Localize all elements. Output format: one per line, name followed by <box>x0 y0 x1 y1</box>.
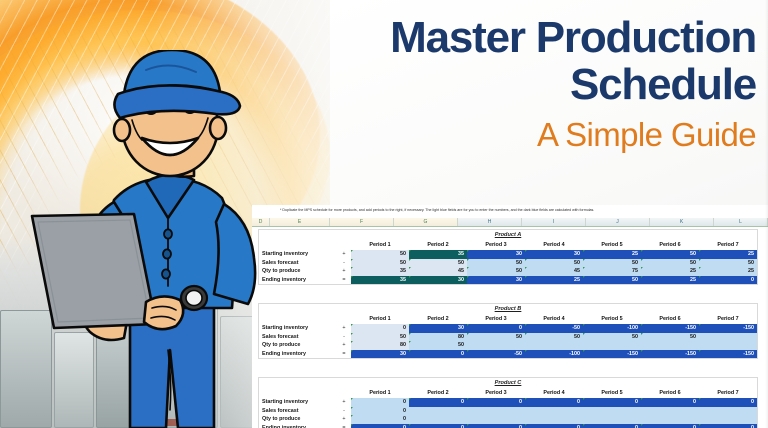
column-header-j[interactable]: J <box>586 218 650 226</box>
cell[interactable]: -50 <box>467 350 525 359</box>
period-header-2: Period 2 <box>409 240 467 250</box>
poster-title-block: Master Production Schedule A Simple Guid… <box>238 14 756 153</box>
cell[interactable]: 30 <box>409 324 467 333</box>
cell[interactable]: 50 <box>351 333 409 342</box>
spreadsheet-note: * Duplicate the MPS schedule for more pr… <box>280 207 766 213</box>
page-title-line-2: Schedule <box>238 61 756 108</box>
cell[interactable]: 30 <box>467 250 525 259</box>
cell[interactable]: 0 <box>351 407 409 416</box>
cell[interactable]: 45 <box>525 267 583 276</box>
cell[interactable]: 50 <box>467 267 525 276</box>
cell[interactable]: 0 <box>699 276 757 285</box>
row-operator: + <box>337 341 351 350</box>
period-header-1: Period 1 <box>351 388 409 398</box>
cell[interactable]: 0 <box>699 398 757 407</box>
column-header-g[interactable]: G <box>394 218 458 226</box>
product-block-c: Product CPeriod 1Period 2Period 3Period … <box>258 377 758 428</box>
cell[interactable]: 25 <box>699 250 757 259</box>
page-title-line-1: Master Production <box>238 14 756 61</box>
cell[interactable]: 45 <box>409 267 467 276</box>
cell[interactable] <box>699 407 757 416</box>
column-header-h[interactable]: H <box>458 218 522 226</box>
product-block-a: Product APeriod 1Period 2Period 3Period … <box>258 229 758 285</box>
column-header-l[interactable]: L <box>714 218 768 226</box>
worker-illustration <box>18 50 284 428</box>
cell[interactable]: 50 <box>641 259 699 268</box>
table-row: Starting inventory+0000000 <box>259 398 757 407</box>
table-row: Qty to produce+0 <box>259 415 757 424</box>
table-row: Sales forecast-0 <box>259 407 757 416</box>
row-operator: + <box>337 415 351 424</box>
cell[interactable]: 0 <box>351 424 409 428</box>
cell[interactable]: 50 <box>641 250 699 259</box>
cell[interactable]: 0 <box>351 398 409 407</box>
column-header-row: DEFGHIJKL <box>252 218 768 227</box>
table-row: Ending inventory=0000000 <box>259 424 757 428</box>
row-operator: + <box>337 398 351 407</box>
cell[interactable] <box>583 415 641 424</box>
cell[interactable]: 0 <box>583 424 641 428</box>
product-title-product-c: Product C <box>259 378 757 388</box>
cell[interactable] <box>525 341 583 350</box>
period-header-4: Period 4 <box>525 388 583 398</box>
table-row: Sales forecast-50505050505050 <box>259 259 757 268</box>
poster-canvas: Master Production Schedule A Simple Guid… <box>0 0 768 428</box>
cell[interactable]: 0 <box>641 424 699 428</box>
cell[interactable] <box>641 415 699 424</box>
page-subtitle: A Simple Guide <box>238 117 756 153</box>
cell[interactable]: 50 <box>467 259 525 268</box>
product-title-text: Product A <box>495 232 522 238</box>
cell[interactable]: 0 <box>467 324 525 333</box>
product-title-product-b: Product B <box>259 304 757 314</box>
table-row: Ending inventory=300-50-100-150-150-150 <box>259 350 757 359</box>
period-header-1: Period 1 <box>351 240 409 250</box>
cell[interactable]: 0 <box>525 424 583 428</box>
product-title-product-a: Product A <box>259 230 757 240</box>
period-header-6: Period 6 <box>641 314 699 324</box>
cell[interactable]: 0 <box>467 398 525 407</box>
row-operator: - <box>337 333 351 342</box>
cell[interactable]: 35 <box>351 267 409 276</box>
product-title-text: Product B <box>495 306 522 312</box>
cell[interactable]: 0 <box>699 424 757 428</box>
table-row: Qty to produce+35455045752525 <box>259 267 757 276</box>
cell[interactable]: 35 <box>351 276 409 285</box>
cell[interactable]: -150 <box>699 350 757 359</box>
cell[interactable]: -100 <box>525 350 583 359</box>
period-header-row: Period 1Period 2Period 3Period 4Period 5… <box>259 240 757 250</box>
cell[interactable] <box>525 407 583 416</box>
cell[interactable] <box>409 407 467 416</box>
cell[interactable] <box>699 341 757 350</box>
period-header-4: Period 4 <box>525 240 583 250</box>
cell[interactable]: -50 <box>525 324 583 333</box>
period-row-op-spacer <box>337 314 351 324</box>
spreadsheet: * Duplicate the MPS schedule for more pr… <box>252 205 768 428</box>
cell[interactable]: -150 <box>699 324 757 333</box>
column-header-k[interactable]: K <box>650 218 714 226</box>
cell[interactable]: 30 <box>467 276 525 285</box>
row-operator: + <box>337 324 351 333</box>
cell[interactable]: 0 <box>409 398 467 407</box>
cell[interactable]: 50 <box>583 259 641 268</box>
cell[interactable]: 50 <box>641 333 699 342</box>
period-row-op-spacer <box>337 240 351 250</box>
cell[interactable] <box>467 415 525 424</box>
product-block-b: Product BPeriod 1Period 2Period 3Period … <box>258 303 758 359</box>
cell[interactable] <box>583 341 641 350</box>
row-operator: + <box>337 267 351 276</box>
row-operator: - <box>337 259 351 268</box>
product-title-text: Product C <box>495 380 522 386</box>
cell[interactable]: 0 <box>467 424 525 428</box>
row-operator: = <box>337 276 351 285</box>
period-header-row: Period 1Period 2Period 3Period 4Period 5… <box>259 388 757 398</box>
period-header-3: Period 3 <box>467 388 525 398</box>
column-header-f[interactable]: F <box>330 218 394 226</box>
cell[interactable]: -150 <box>641 324 699 333</box>
table-row: Qty to produce+8050 <box>259 341 757 350</box>
cell[interactable] <box>467 341 525 350</box>
spreadsheet-grid: Product APeriod 1Period 2Period 3Period … <box>252 227 768 428</box>
table-row: Starting inventory+0300-50-100-150-150 <box>259 324 757 333</box>
cell[interactable]: 25 <box>525 276 583 285</box>
cell[interactable]: 50 <box>351 259 409 268</box>
cell[interactable]: 0 <box>409 350 467 359</box>
cell[interactable]: 50 <box>409 259 467 268</box>
cell[interactable]: -150 <box>583 350 641 359</box>
cell[interactable]: 30 <box>351 350 409 359</box>
cell[interactable]: 0 <box>641 398 699 407</box>
period-header-6: Period 6 <box>641 388 699 398</box>
period-header-7: Period 7 <box>699 240 757 250</box>
table-row: Starting inventory+50353030255025 <box>259 250 757 259</box>
cell[interactable]: 25 <box>641 276 699 285</box>
cell[interactable]: -100 <box>583 324 641 333</box>
cell[interactable]: 50 <box>351 250 409 259</box>
cell[interactable]: 50 <box>525 333 583 342</box>
cell[interactable]: 35 <box>409 250 467 259</box>
cell[interactable] <box>525 415 583 424</box>
cell[interactable]: 50 <box>409 341 467 350</box>
cell[interactable]: 80 <box>351 341 409 350</box>
cell[interactable]: 25 <box>583 250 641 259</box>
cell[interactable]: 30 <box>409 276 467 285</box>
table-row: Ending inventory=3530302550250 <box>259 276 757 285</box>
row-operator: = <box>337 350 351 359</box>
period-header-2: Period 2 <box>409 388 467 398</box>
period-header-5: Period 5 <box>583 240 641 250</box>
cell[interactable]: 0 <box>583 398 641 407</box>
cell[interactable] <box>583 407 641 416</box>
period-header-1: Period 1 <box>351 314 409 324</box>
period-row-op-spacer <box>337 388 351 398</box>
cell[interactable]: 75 <box>583 267 641 276</box>
cell[interactable] <box>641 341 699 350</box>
table-row: Sales forecast-508050505050 <box>259 333 757 342</box>
cell[interactable]: -150 <box>641 350 699 359</box>
row-operator: + <box>337 250 351 259</box>
cell[interactable]: 25 <box>699 267 757 276</box>
cell[interactable]: 50 <box>525 259 583 268</box>
cell[interactable]: 50 <box>583 333 641 342</box>
cell[interactable] <box>699 333 757 342</box>
cell[interactable]: 0 <box>409 424 467 428</box>
cell[interactable]: 30 <box>525 250 583 259</box>
cell[interactable]: 0 <box>351 415 409 424</box>
cell[interactable] <box>409 415 467 424</box>
cell[interactable]: 0 <box>351 324 409 333</box>
period-header-row: Period 1Period 2Period 3Period 4Period 5… <box>259 314 757 324</box>
period-header-7: Period 7 <box>699 388 757 398</box>
period-header-3: Period 3 <box>467 240 525 250</box>
cell[interactable]: 50 <box>467 333 525 342</box>
period-header-3: Period 3 <box>467 314 525 324</box>
cell[interactable] <box>467 407 525 416</box>
cell[interactable] <box>641 407 699 416</box>
period-header-4: Period 4 <box>525 314 583 324</box>
row-operator: - <box>337 407 351 416</box>
period-header-6: Period 6 <box>641 240 699 250</box>
cell[interactable] <box>699 415 757 424</box>
cell[interactable]: 25 <box>641 267 699 276</box>
period-header-5: Period 5 <box>583 388 641 398</box>
period-header-2: Period 2 <box>409 314 467 324</box>
cell[interactable]: 80 <box>409 333 467 342</box>
period-header-5: Period 5 <box>583 314 641 324</box>
cell[interactable]: 50 <box>699 259 757 268</box>
cell[interactable]: 50 <box>583 276 641 285</box>
row-operator: = <box>337 424 351 428</box>
period-header-7: Period 7 <box>699 314 757 324</box>
column-header-i[interactable]: I <box>522 218 586 226</box>
cell[interactable]: 0 <box>525 398 583 407</box>
